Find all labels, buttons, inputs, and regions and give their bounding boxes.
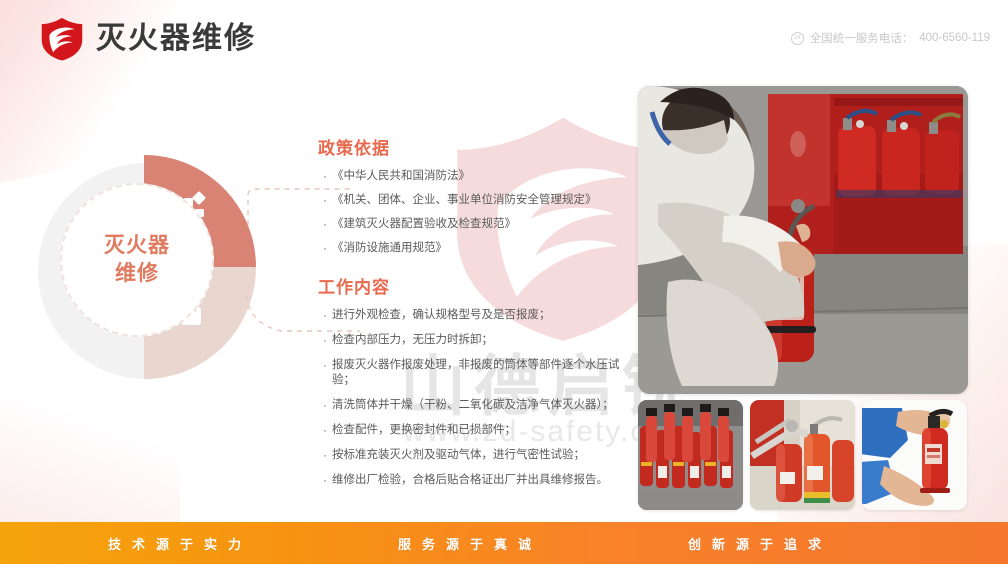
list-item-text: 检查内部压力，无压力时拆卸； [332,333,638,348]
list-item: · 报废灭火器作报废处理，非报废的筒体等部件逐个水压试验； [318,358,638,388]
thumbnail-image-2[interactable] [750,400,855,510]
infographic-center-line1: 灭火器 [104,232,170,260]
list-item-text: 《消防设施通用规范》 [332,241,638,256]
thumbnail-image-3[interactable] [862,400,967,510]
slide-canvas: 灭火器维修 24 全国统一服务电话： 400-6560-119 山德启锐 www… [0,0,1008,564]
bullet-dot: · [318,193,332,208]
circular-infographic: 灭火器 维修 [36,155,296,405]
list-item: · 《机关、团体、企业、事业单位消防安全管理规定》 [318,193,638,208]
footer-slogan-3: 创新源于追求 [688,534,832,553]
bullet-dot: · [318,423,332,438]
content-column: 政策依据 · 《中华人民共和国消防法》 · 《机关、团体、企业、事业单位消防安全… [318,138,638,498]
section-work-content: 工作内容 · 进行外观检查，确认规格型号及是否报废； · 检查内部压力，无压力时… [318,277,638,488]
bullet-dot: · [318,169,332,184]
list-item: · 《中华人民共和国消防法》 [318,169,638,184]
footer-slogan-1: 技术源于实力 [108,534,252,553]
list-item-text: 按标准充装灭火剂及驱动气体，进行气密性试验； [332,448,638,463]
hotline-number: 400-6560-119 [919,32,990,44]
hotline-block: 24 全国统一服务电话： 400-6560-119 [791,30,990,46]
bullet-list: · 进行外观检查，确认规格型号及是否报废； · 检查内部压力，无压力时拆卸； ·… [318,308,638,488]
bullet-dot: · [318,333,332,348]
hotline-label: 全国统一服务电话： [810,30,914,46]
list-item: · 清洗筒体并干燥（干粉、二氧化碳及洁净气体灭火器）； [318,398,638,413]
thumbnail-image-1[interactable] [638,400,743,510]
main-photo[interactable] [638,86,968,394]
list-item: · 《消防设施通用规范》 [318,241,638,256]
infographic-center-line2: 维修 [115,260,159,288]
list-item: · 《建筑灭火器配置验收及检查规范》 [318,217,638,232]
bullet-dot: · [318,448,332,463]
list-item: · 检查内部压力，无压力时拆卸； [318,333,638,348]
list-item-text: 《中华人民共和国消防法》 [332,169,638,184]
infographic-center-label: 灭火器 维修 [60,183,214,337]
page-title: 灭火器维修 [96,22,256,56]
list-item-text: 检查配件，更换密封件和已损部件； [332,423,638,438]
list-item: · 按标准充装灭火剂及驱动气体，进行气密性试验； [318,448,638,463]
bullet-list: · 《中华人民共和国消防法》 · 《机关、团体、企业、事业单位消防安全管理规定》… [318,169,638,256]
phone-24h-icon: 24 [791,32,804,45]
list-item-text: 清洗筒体并干燥（干粉、二氧化碳及洁净气体灭火器）； [332,398,638,413]
bullet-dot: · [318,358,332,373]
list-item-text: 报废灭火器作报废处理，非报废的筒体等部件逐个水压试验； [332,358,638,388]
section-heading: 政策依据 [318,138,638,160]
thumbnail-row [638,400,968,510]
bullet-dot: · [318,241,332,256]
section-policy-basis: 政策依据 · 《中华人民共和国消防法》 · 《机关、团体、企业、事业单位消防安全… [318,138,638,256]
list-item-text: 《机关、团体、企业、事业单位消防安全管理规定》 [332,193,638,208]
shield-flame-logo-icon [40,17,84,61]
list-item: · 进行外观检查，确认规格型号及是否报废； [318,308,638,323]
bullet-dot: · [318,217,332,232]
bullet-dot: · [318,473,332,488]
list-item-text: 《建筑灭火器配置验收及检查规范》 [332,217,638,232]
section-heading: 工作内容 [318,277,638,299]
list-item-text: 维修出厂检验，合格后贴合格证出厂并出具维修报告。 [332,473,638,488]
bullet-dot: · [318,398,332,413]
page-header: 灭火器维修 24 全国统一服务电话： 400-6560-119 [0,0,1008,74]
list-item: · 检查配件，更换密封件和已损部件； [318,423,638,438]
list-item: · 维修出厂检验，合格后贴合格证出厂并出具维修报告。 [318,473,638,488]
footer-bar: 技术源于实力 服务源于真诚 创新源于追求 [0,522,1008,564]
footer-slogan-2: 服务源于真诚 [398,534,542,553]
list-item-text: 进行外观检查，确认规格型号及是否报废； [332,308,638,323]
bullet-dot: · [318,308,332,323]
